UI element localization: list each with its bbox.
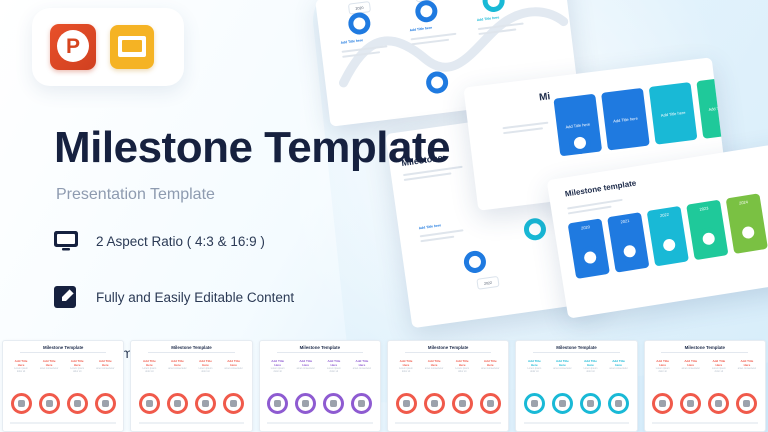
feature-label: 2 Aspect Ratio ( 4:3 & 16:9 ) xyxy=(96,234,265,249)
thumbnail-ring xyxy=(351,393,372,414)
thumbnail-caption: Add Title Here xyxy=(324,359,343,367)
thumbnail-title: Milestone Template xyxy=(171,345,211,350)
thumbnail-body: amet consectetur xyxy=(224,367,243,370)
year-badge: 2022 xyxy=(476,276,499,290)
thumbnail-slide[interactable]: Milestone Template Add Title HereLorem i… xyxy=(644,340,766,432)
powerpoint-letter: P xyxy=(50,24,96,70)
pencil-edit-icon xyxy=(52,283,80,311)
thumbnail-body: amet consectetur xyxy=(352,367,371,370)
milestone-ring xyxy=(523,217,548,242)
thumbnail-ring xyxy=(736,393,757,414)
thumbnail-body: amet consectetur xyxy=(296,367,315,370)
feature-label: Fully and Easily Editable Content xyxy=(96,290,294,305)
monitor-icon xyxy=(52,227,80,255)
thumbnail-caption: Add Title Here xyxy=(68,359,87,367)
thumbnail-body: Lorem ipsum dolor sit xyxy=(453,367,472,373)
thumbnail-ring xyxy=(708,393,729,414)
thumbnail-ring xyxy=(167,393,188,414)
thumbnail-slide[interactable]: Milestone Template Add Title HereLorem i… xyxy=(2,340,124,432)
thumbnail-ring xyxy=(95,393,116,414)
thumbnail-ring xyxy=(11,393,32,414)
milestone-chip: Add Title here xyxy=(649,82,698,145)
slide-title: Milestone template xyxy=(564,178,637,198)
thumbnail-caption: Add Title Here xyxy=(96,359,115,367)
page-title: Milestone Template xyxy=(54,122,450,174)
thumbnail-caption: Add Title Here xyxy=(737,359,756,367)
text-line xyxy=(503,127,543,133)
thumbnail-title: Milestone Template xyxy=(685,345,725,350)
thumbnail-body: amet consectetur xyxy=(481,367,500,370)
thumbnail-ring xyxy=(608,393,629,414)
thumbnail-body: Lorem ipsum dolor sit xyxy=(525,367,544,373)
thumbnail-caption: Add Title Here xyxy=(140,359,159,367)
app-icons-card: P xyxy=(32,8,184,86)
thumbnail-caption: Add Title Here xyxy=(453,359,472,367)
thumbnail-body: Lorem ipsum dolor sit xyxy=(653,367,672,373)
thumbnail-ring xyxy=(323,393,344,414)
milestone-ring xyxy=(463,250,488,275)
thumbnail-body: Lorem ipsum dolor sit xyxy=(324,367,343,373)
thumbnail-caption: Add Title Here xyxy=(553,359,572,367)
thumbnail-ring xyxy=(652,393,673,414)
feature-item-aspect-ratio: 2 Aspect Ratio ( 4:3 & 16:9 ) xyxy=(52,222,372,260)
thumbnail-title: Milestone Template xyxy=(428,345,468,350)
thumbnail-caption: Add Title Here xyxy=(609,359,628,367)
thumbnail-caption: Add Title Here xyxy=(168,359,187,367)
thumbnail-body: amet consectetur xyxy=(609,367,628,370)
thumbnail-caption: Add Title Here xyxy=(296,359,315,367)
thumbnail-caption: Add Title Here xyxy=(352,359,371,367)
thumbnail-ring xyxy=(424,393,445,414)
feature-item-editable: Fully and Easily Editable Content xyxy=(52,278,372,316)
thumbnail-body: Lorem ipsum dolor sit xyxy=(11,367,30,373)
thumbnail-ring xyxy=(195,393,216,414)
thumbnail-body: Lorem ipsum dolor sit xyxy=(581,367,600,373)
thumbnail-body: amet consectetur xyxy=(553,367,572,370)
thumbnail-title: Milestone Template xyxy=(300,345,340,350)
thumbnail-strip: Milestone Template Add Title HereLorem i… xyxy=(0,340,768,432)
slide-title: Mi xyxy=(539,91,551,103)
powerpoint-icon: P xyxy=(50,24,96,70)
thumbnail-caption: Add Title Here xyxy=(709,359,728,367)
thumbnail-ring xyxy=(67,393,88,414)
thumbnail-title: Milestone Template xyxy=(556,345,596,350)
thumbnail-caption: Add Title Here xyxy=(40,359,59,367)
google-slides-icon xyxy=(110,25,154,69)
thumbnail-caption: Add Title Here xyxy=(653,359,672,367)
thumbnail-ring xyxy=(580,393,601,414)
thumbnail-body: amet consectetur xyxy=(96,367,115,370)
thumbnail-body: amet consectetur xyxy=(681,367,700,370)
thumbnail-slide[interactable]: Milestone Template Add Title HereLorem i… xyxy=(387,340,509,432)
thumbnail-ring xyxy=(396,393,417,414)
thumbnail-ring xyxy=(295,393,316,414)
thumbnail-caption: Add Title Here xyxy=(224,359,243,367)
thumbnail-caption: Add Title Here xyxy=(425,359,444,367)
thumbnail-caption: Add Title Here xyxy=(581,359,600,367)
thumbnail-body: amet consectetur xyxy=(425,367,444,370)
thumbnail-caption: Add Title Here xyxy=(681,359,700,367)
thumbnail-title: Milestone Template xyxy=(43,345,83,350)
thumbnail-ring xyxy=(680,393,701,414)
thumbnail-body: Lorem ipsum dolor sit xyxy=(709,367,728,373)
thumbnail-body: amet consectetur xyxy=(737,367,756,370)
thumbnail-caption: Add Title Here xyxy=(268,359,287,367)
thumbnail-caption: Add Title Here xyxy=(11,359,30,367)
thumbnail-ring xyxy=(524,393,545,414)
thumbnail-slide[interactable]: Milestone Template Add Title HereLorem i… xyxy=(515,340,637,432)
thumbnail-body: Lorem ipsum dolor sit xyxy=(396,367,415,373)
thumbnail-ring xyxy=(267,393,288,414)
thumbnail-ring xyxy=(223,393,244,414)
thumbnail-body: Lorem ipsum dolor sit xyxy=(196,367,215,373)
thumbnail-body: Lorem ipsum dolor sit xyxy=(140,367,159,373)
text-line xyxy=(420,229,464,237)
thumbnail-ring xyxy=(139,393,160,414)
page-subtitle: Presentation Template xyxy=(56,186,215,204)
card-label: Add Title here xyxy=(418,223,441,230)
thumbnail-caption: Add Title Here xyxy=(396,359,415,367)
thumbnail-body: amet consectetur xyxy=(168,367,187,370)
thumbnail-caption: Add Title Here xyxy=(481,359,500,367)
thumbnail-body: Lorem ipsum dolor sit xyxy=(268,367,287,373)
thumbnail-slide[interactable]: Milestone Template Add Title HereLorem i… xyxy=(130,340,252,432)
thumbnail-caption: Add Title Here xyxy=(525,359,544,367)
milestone-chip: Add Title here xyxy=(601,88,650,151)
thumbnail-ring xyxy=(552,393,573,414)
thumbnail-ring xyxy=(39,393,60,414)
thumbnail-ring xyxy=(480,393,501,414)
thumbnail-body: Lorem ipsum dolor sit xyxy=(68,367,87,373)
thumbnail-slide[interactable]: Milestone Template Add Title HereLorem i… xyxy=(259,340,381,432)
thumbnail-caption: Add Title Here xyxy=(196,359,215,367)
poster-stage: 2020 2021 2022 Add Title here Add Title … xyxy=(0,0,768,432)
text-line xyxy=(420,236,454,242)
thumbnail-body: amet consectetur xyxy=(40,367,59,370)
thumbnail-ring xyxy=(452,393,473,414)
